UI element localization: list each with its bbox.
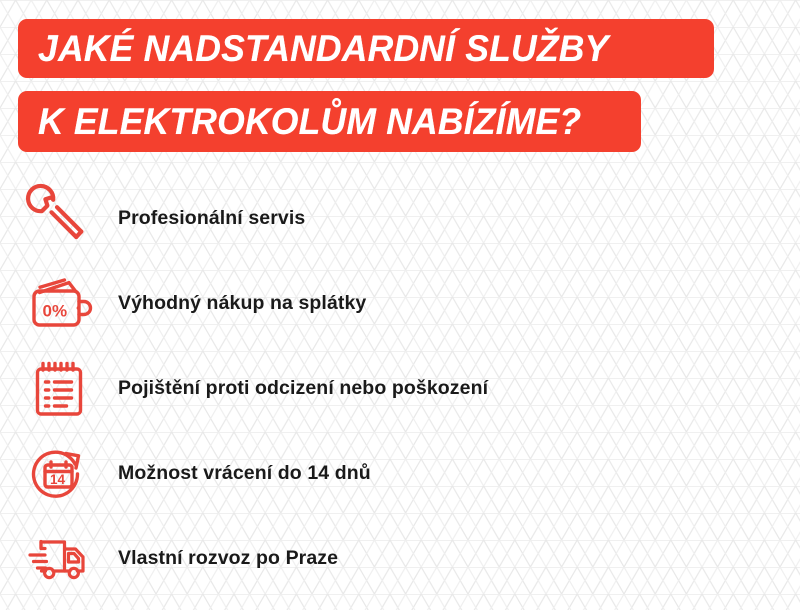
feature-label-return-policy: Možnost vrácení do 14 dnů (118, 463, 371, 484)
feature-row-insurance: Pojištění proti odcizení nebo poškození (0, 346, 800, 431)
feature-row-own-delivery: Vlastní rozvoz po Praze (0, 516, 800, 601)
feature-label-installments: Výhodný nákup na splátky (118, 293, 366, 314)
feature-row-professional-service: Profesionální servis (0, 176, 800, 261)
feature-label-own-delivery: Vlastní rozvoz po Praze (118, 548, 338, 569)
return-icon-text: 14 (50, 472, 66, 487)
feature-label-insurance: Pojištění proti odcizení nebo poškození (118, 378, 488, 399)
notepad-list-icon (28, 358, 90, 420)
headline-text-line-2: K ELEKTROKOLŮM NABÍZÍME? (38, 103, 581, 140)
wallet-zero-percent-icon: 0% (28, 273, 90, 335)
headline-banner-line-1: JAKÉ NADSTANDARDNÍ SLUŽBY (18, 19, 714, 78)
headline-text-line-1: JAKÉ NADSTANDARDNÍ SLUŽBY (38, 30, 609, 67)
wrench-icon (28, 188, 90, 250)
infographic-page: JAKÉ NADSTANDARDNÍ SLUŽBY K ELEKTROKOLŮM… (0, 0, 800, 610)
feature-row-return-policy: 14 Možnost vrácení do 14 dnů (0, 431, 800, 516)
feature-row-installments: 0% Výhodný nákup na splátky (0, 261, 800, 346)
wallet-icon-text: 0% (43, 301, 68, 320)
headline-banner-line-2: K ELEKTROKOLŮM NABÍZÍME? (18, 91, 641, 152)
return-14-days-icon: 14 (28, 443, 90, 505)
feature-list: Profesionální servis 0% Výhodný nákup (0, 176, 800, 601)
feature-label-professional-service: Profesionální servis (118, 208, 305, 229)
delivery-truck-icon (28, 528, 90, 590)
